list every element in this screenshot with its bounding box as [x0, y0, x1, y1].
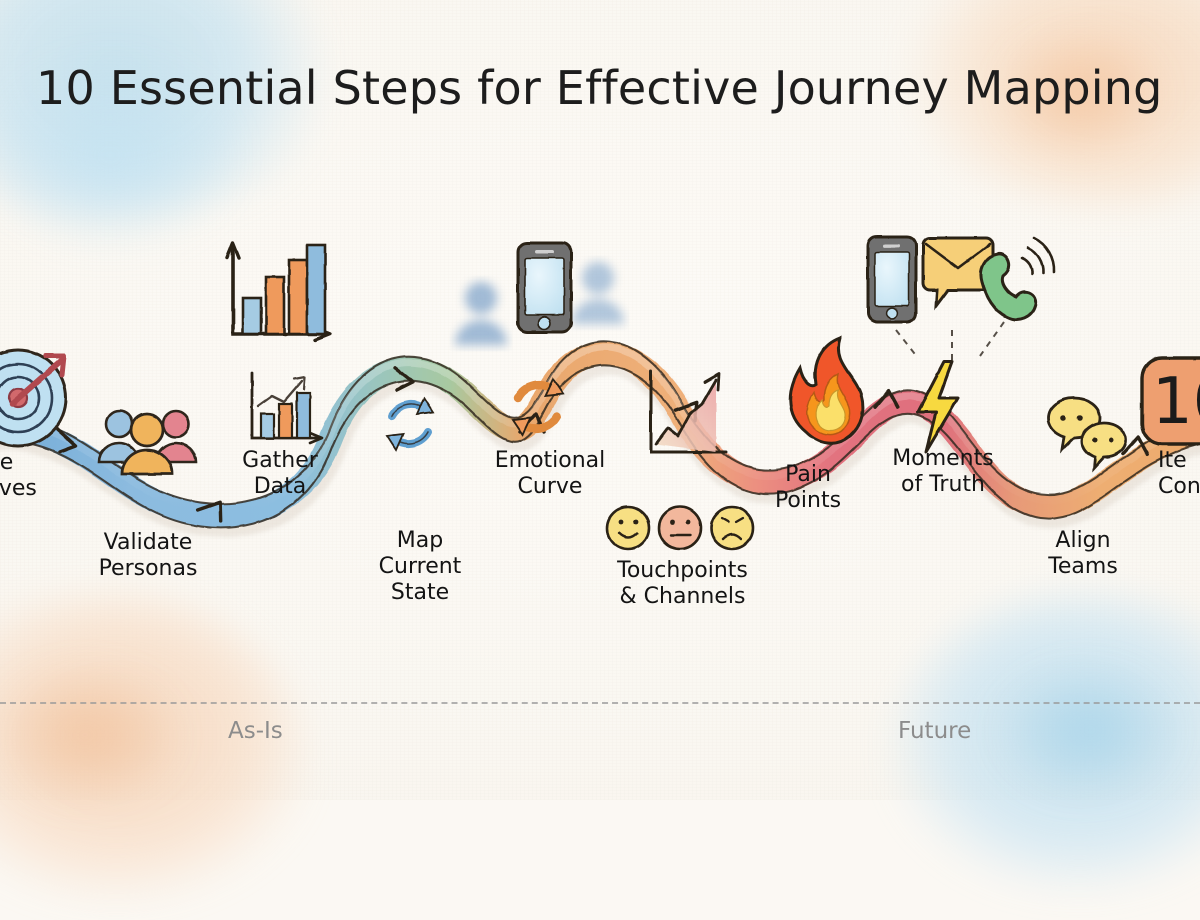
flame-icon [790, 338, 863, 443]
step-label-touchpoints-channels: Touchpoints & Channels [600, 558, 765, 610]
refresh-arrows-blue-icon [387, 398, 433, 450]
emoji-neutral [659, 507, 701, 549]
smartphone-people-group [455, 243, 624, 345]
step-label-moments-of-truth: Moments of Truth [878, 446, 1008, 498]
step-label-define-objectives: fine ctives [0, 450, 102, 502]
speech-bubbles-icon [1048, 398, 1126, 468]
page-title: 10 Essential Steps for Effective Journey… [36, 64, 1176, 112]
step-label-validate-personas: Validate Personas [78, 530, 218, 582]
step-label-map-current-state: Map Current State [360, 528, 480, 606]
emoji-happy [607, 507, 649, 549]
step-label-pain-points: Pain Points [758, 462, 858, 514]
bar-chart-trend-icon [252, 373, 322, 443]
timeline-axis [0, 702, 1200, 704]
smartphone-icon-right [868, 237, 916, 322]
axis-label-future: Future [898, 718, 971, 744]
badge-number: 10 [1152, 366, 1200, 438]
emoji-sad [711, 507, 753, 549]
emoji-faces-icon [607, 507, 753, 549]
axis-label-as-is: As-Is [228, 718, 283, 744]
step-label-gather-data: Gather Data [220, 448, 340, 500]
step-label-iterate-continuously: Ite Contin [1158, 448, 1200, 500]
channel-icons-group [868, 237, 1054, 360]
smartphone-icon [518, 243, 571, 332]
infographic-canvas: 10 10 Essential Steps for Effective Jour… [0, 0, 1200, 800]
step-label-emotional-curve: Emotional Curve [480, 448, 620, 500]
bar-chart-icon [227, 243, 330, 340]
journey-map-artwork [0, 0, 1200, 800]
channel-connectors [896, 322, 1004, 360]
person-silhouette-left [455, 282, 507, 345]
step-label-align-teams: Align Teams [1028, 528, 1138, 580]
person-silhouette-right [572, 262, 624, 324]
